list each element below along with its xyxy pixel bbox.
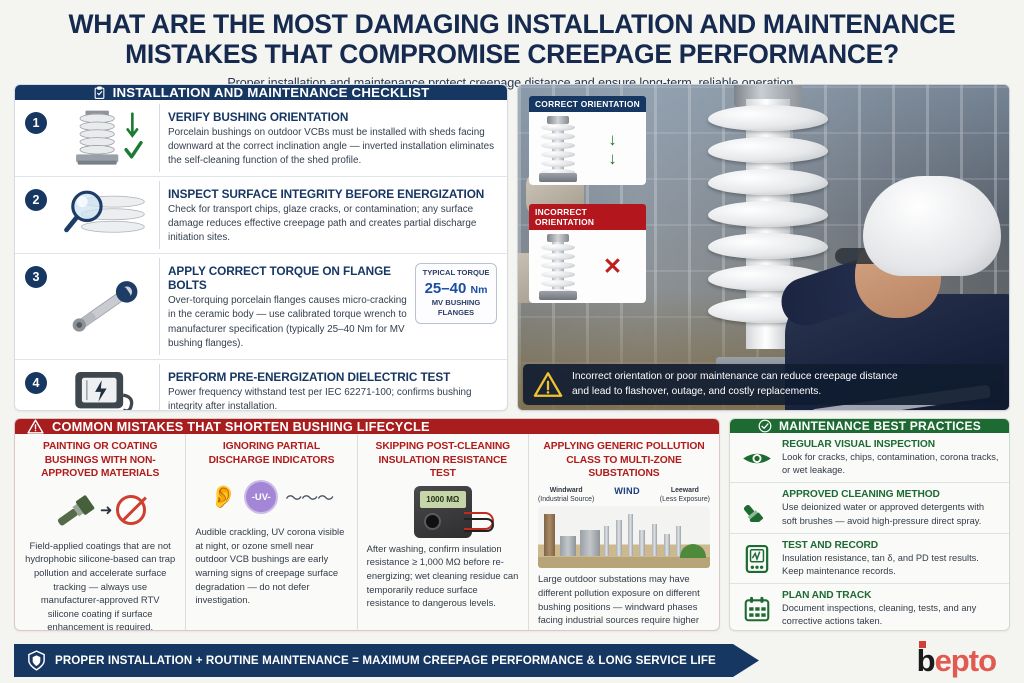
torque-badge-unit: Nm (470, 284, 487, 296)
arrow-right-icon: ➜ (100, 501, 113, 519)
checklist-item-2[interactable]: 2 INSPECT SURFACE INTEGRITY (15, 177, 507, 254)
photo-warning-line2: and lead to flashover, outage, and costl… (572, 385, 898, 399)
mistake-column-1[interactable]: PAINTING OR COATING BUSHINGS WITH NON-AP… (15, 434, 186, 631)
mistake-column-4[interactable]: APPLYING GENERIC POLLUTION CLASS TO MULT… (529, 434, 719, 631)
header: WHAT ARE THE MOST DAMAGING INSTALLATION … (0, 0, 1024, 90)
brush-icon (740, 489, 774, 527)
check-circle-icon (758, 419, 772, 433)
best-practice-body: Use deionized water or approved detergen… (782, 501, 1000, 527)
wind-label: WIND (614, 486, 640, 496)
best-practice-title: TEST AND RECORD (782, 540, 1000, 551)
footer-banner: PROPER INSTALLATION + ROUTINE MAINTENANC… (14, 644, 759, 677)
mistake-title: SKIPPING POST-CLEANING INSULATION RESIST… (367, 440, 519, 481)
uv-badge: -UV- (246, 482, 276, 512)
footer: PROPER INSTALLATION + ROUTINE MAINTENANC… (0, 641, 1024, 683)
down-arrow-icon-2: ↓ (608, 150, 617, 167)
photo-warning-strip: Incorrect orientation or poor maintenanc… (523, 364, 1004, 405)
common-mistakes-panel: COMMON MISTAKES THAT SHORTEN BUSHING LIF… (14, 418, 720, 631)
checklist-item-body: Power frequency withstand test per IEC 6… (168, 386, 497, 411)
mini-bushing-correct-icon (535, 116, 581, 182)
mistake-body: Field-applied coatings that are not hydr… (24, 539, 176, 631)
clipboard-check-icon (93, 86, 106, 100)
best-practices-header-label: MAINTENANCE BEST PRACTICES (779, 419, 981, 433)
mistake-title: PAINTING OR COATING BUSHINGS WITH NON-AP… (24, 440, 176, 481)
test-meter-icon (740, 540, 774, 578)
page-title: WHAT ARE THE MOST DAMAGING INSTALLATION … (30, 10, 994, 69)
torque-wrench-icon (53, 276, 157, 338)
dielectric-tester-icon (53, 365, 157, 411)
best-practice-title: REGULAR VISUAL INSPECTION (782, 439, 1000, 450)
insulation-resistance-meter-icon: 1000 MΩ (367, 481, 519, 542)
torque-badge-line3: MV BUSHING (418, 298, 494, 308)
typical-torque-badge: TYPICAL TORQUE 25–40 Nm MV BUSHING FLANG… (415, 263, 497, 324)
best-practice-body: Document inspections, cleaning, tests, a… (782, 602, 1000, 628)
calendar-icon (740, 590, 774, 628)
mistake-body: After washing, confirm insulation resist… (367, 542, 519, 610)
best-practice-item-1[interactable]: REGULAR VISUAL INSPECTION Look for crack… (730, 433, 1009, 483)
checklist-header: INSTALLATION AND MAINTENANCE CHECKLIST (15, 85, 507, 100)
best-practice-item-2[interactable]: APPROVED CLEANING METHOD Use deionized w… (730, 483, 1009, 533)
mistake-body: Audible crackling, UV corona visible at … (195, 525, 347, 607)
ear-uv-ozone-icon: 👂 -UV- 〜〜〜 (195, 467, 347, 525)
best-practices-header: MAINTENANCE BEST PRACTICES (730, 419, 1009, 433)
logo-b: b (917, 643, 935, 679)
checklist-item-body: Porcelain bushings on outdoor VCBs must … (168, 126, 497, 168)
checklist-item-title: INSPECT SURFACE INTEGRITY BEFORE ENERGIZ… (168, 187, 497, 201)
footer-text: PROPER INSTALLATION + ROUTINE MAINTENANC… (55, 654, 716, 667)
mistake-title: IGNORING PARTIAL DISCHARGE INDICATORS (195, 440, 347, 467)
checklist-item-1[interactable]: 1 (15, 100, 507, 177)
ozone-waves-icon: 〜〜〜 (285, 484, 333, 509)
best-practice-body: Look for cracks, chips, contamination, c… (782, 451, 1000, 477)
torque-badge-value: 25–40 (425, 280, 467, 297)
eye-icon (740, 439, 774, 477)
checklist-number: 4 (25, 372, 47, 394)
paintbrush-prohibited-icon: ➜ (24, 481, 176, 539)
checklist-item-title: VERIFY BUSHING ORIENTATION (168, 110, 497, 124)
mistake-title: APPLYING GENERIC POLLUTION CLASS TO MULT… (538, 440, 710, 481)
checklist-item-title: APPLY CORRECT TORQUE ON FLANGE BOLTS (168, 264, 408, 292)
checklist-number: 1 (25, 112, 47, 134)
checklist-number: 2 (25, 189, 47, 211)
substation-illustration (538, 506, 710, 568)
incorrect-orientation-label: INCORRECT ORIENTATION (529, 204, 646, 230)
down-arrow-icon: ↓ (608, 131, 617, 148)
checklist-item-body: Over-torquing porcelain flanges causes m… (168, 294, 408, 350)
mistake-body: Large outdoor substations may have diffe… (538, 572, 710, 631)
bepto-logo[interactable]: b epto (917, 643, 996, 679)
torque-badge-line4: FLANGES (418, 308, 494, 318)
correct-orientation-label: CORRECT ORIENTATION (529, 96, 646, 112)
best-practice-item-4[interactable]: PLAN AND TRACK Document inspections, cle… (730, 584, 1009, 631)
technician-installing-porcelain-bushing-photo: CORRECT ORIENTATION ↓ ↓ (517, 84, 1010, 411)
checklist-item-3[interactable]: 3 (15, 254, 507, 359)
best-practice-body: Insulation resistance, tan δ, and PD tes… (782, 552, 1000, 578)
infographic-page: WHAT ARE THE MOST DAMAGING INSTALLATION … (0, 0, 1024, 683)
magnifier-bushing-icon (53, 187, 157, 243)
ear-icon: 👂 (210, 486, 237, 508)
correct-orientation-card: CORRECT ORIENTATION ↓ ↓ (529, 96, 646, 185)
meter-reading: 1000 MΩ (420, 491, 466, 508)
prohibited-icon (116, 495, 146, 525)
warning-triangle-icon (27, 419, 44, 434)
checklist-number: 3 (25, 266, 47, 288)
checklist-item-4[interactable]: 4 PERFORM PRE-ENERGIZATION DIELECTRIC TE… (15, 360, 507, 411)
mini-bushing-incorrect-icon (535, 234, 581, 300)
mistake-column-3[interactable]: SKIPPING POST-CLEANING INSULATION RESIST… (358, 434, 529, 631)
photo-warning-line1: Incorrect orientation or poor maintenanc… (572, 370, 898, 384)
warning-triangle-icon (533, 371, 563, 398)
logo-epto: epto (935, 643, 996, 679)
best-practices-panel: MAINTENANCE BEST PRACTICES REGULAR VISUA… (729, 418, 1010, 631)
checklist-item-body: Check for transport chips, glaze cracks,… (168, 203, 497, 245)
cross-icon: ✕ (603, 255, 622, 278)
lower-row: COMMON MISTAKES THAT SHORTEN BUSHING LIF… (14, 418, 1010, 631)
checklist-panel: INSTALLATION AND MAINTENANCE CHECKLIST 1 (14, 84, 508, 411)
mistakes-header: COMMON MISTAKES THAT SHORTEN BUSHING LIF… (15, 419, 719, 434)
bushing-correct-orientation-icon (53, 105, 157, 171)
torque-badge-caption: TYPICAL TORQUE (418, 268, 494, 278)
checklist-item-title: PERFORM PRE-ENERGIZATION DIELECTRIC TEST (168, 370, 497, 384)
incorrect-orientation-card: INCORRECT ORIENTATION ✕ (529, 204, 646, 303)
mistakes-header-label: COMMON MISTAKES THAT SHORTEN BUSHING LIF… (52, 419, 430, 434)
checklist-header-label: INSTALLATION AND MAINTENANCE CHECKLIST (113, 85, 430, 100)
best-practice-title: PLAN AND TRACK (782, 590, 1000, 601)
shield-icon (28, 650, 45, 671)
leeward-label-group: Leeward (Less Exposure) (660, 486, 710, 505)
mistake-column-2[interactable]: IGNORING PARTIAL DISCHARGE INDICATORS 👂 … (186, 434, 357, 631)
windward-label-group: Windward (Industrial Source) (538, 486, 594, 505)
substation-wind-diagram-icon: Windward (Industrial Source) WIND Leewar… (538, 481, 710, 573)
best-practice-item-3[interactable]: TEST AND RECORD Insulation resistance, t… (730, 534, 1009, 584)
main-row: INSTALLATION AND MAINTENANCE CHECKLIST 1 (14, 84, 1010, 411)
best-practice-title: APPROVED CLEANING METHOD (782, 489, 1000, 500)
